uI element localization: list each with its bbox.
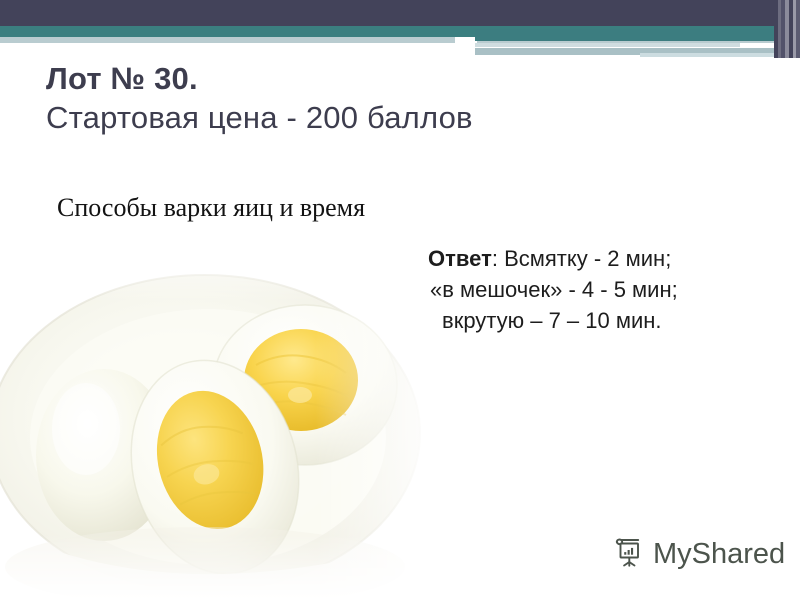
header-vertical-stripes	[774, 0, 800, 58]
header-vertical-stripe	[796, 0, 800, 58]
flipchart-chart-icon	[612, 535, 646, 574]
answer-line-1-rest: : Всмятку - 2 мин;	[492, 246, 671, 271]
header-teal-accent-bar	[475, 29, 800, 41]
myshared-logo[interactable]: MyShared	[612, 535, 785, 574]
header-white-gap	[455, 37, 477, 60]
answer-text: Ответ: Всмятку - 2 мин; «в мешочек» - 4 …	[428, 243, 788, 336]
answer-label: Ответ	[428, 246, 492, 271]
title-lot-number: Лот № 30.	[46, 60, 686, 98]
answer-line-2: «в мешочек» - 4 - 5 мин;	[428, 274, 788, 305]
answer-line-3: вкрутую – 7 – 10 мин.	[428, 305, 788, 336]
myshared-logo-text: MyShared	[653, 538, 785, 571]
boiled-eggs-photo	[0, 237, 438, 600]
header-light-line-top	[475, 43, 740, 47]
question-text: Способы варки яиц и время	[57, 193, 365, 223]
page-title: Лот № 30. Стартовая цена - 200 баллов	[46, 60, 686, 138]
title-starting-price: Стартовая цена - 200 баллов	[46, 98, 686, 138]
header-dark-bar	[0, 0, 800, 26]
slide-header-decoration	[0, 0, 800, 60]
answer-line-1: Ответ: Всмятку - 2 мин;	[428, 243, 788, 274]
